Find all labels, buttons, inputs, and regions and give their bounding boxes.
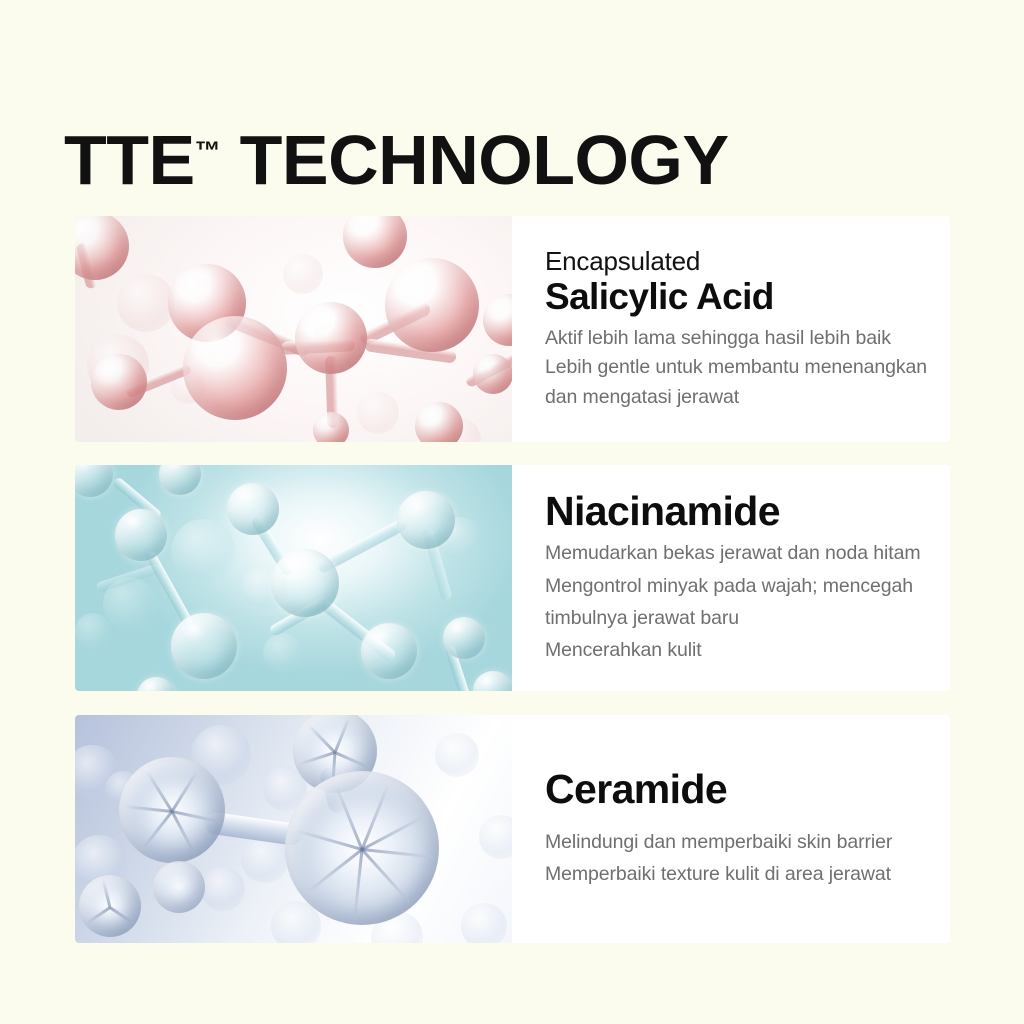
card-description: Memudarkan bekas jerawat dan noda hitam … xyxy=(545,537,926,666)
card-heading: Salicylic Acid xyxy=(545,276,927,317)
page-title-main: TTE xyxy=(64,121,195,199)
card-heading: Ceramide xyxy=(545,767,926,813)
page-title: TTE™ TECHNOLOGY xyxy=(64,125,729,195)
ingredient-card-ceramide[interactable]: Ceramide Melindungi dan memperbaiki skin… xyxy=(75,715,950,943)
description-line: Mencerahkan kulit xyxy=(545,634,926,666)
trademark-symbol: ™ xyxy=(195,136,221,166)
page-root: TTE™ TECHNOLOGY xyxy=(0,0,1024,1024)
card-description: Melindungi dan memperbaiki skin barrier … xyxy=(545,827,926,890)
description-line: Aktif lebih lama sehingga hasil lebih ba… xyxy=(545,324,927,354)
teal-molecule-image xyxy=(75,465,512,691)
description-line: Melindungi dan memperbaiki skin barrier xyxy=(545,827,926,859)
description-line: dan mengatasi jerawat xyxy=(545,383,927,413)
crystal-molecule-image xyxy=(75,715,512,943)
card-body-ceramide: Ceramide Melindungi dan memperbaiki skin… xyxy=(512,715,950,943)
card-body-salicylic-acid: Encapsulated Salicylic Acid Aktif lebih … xyxy=(512,216,950,442)
description-line: Mengontrol minyak pada wajah; mencegah xyxy=(545,570,926,602)
ingredient-card-niacinamide[interactable]: Niacinamide Memudarkan bekas jerawat dan… xyxy=(75,465,950,691)
card-heading: Niacinamide xyxy=(545,489,926,535)
description-line: Memudarkan bekas jerawat dan noda hitam xyxy=(545,537,926,569)
description-line: timbulnya jerawat baru xyxy=(545,602,926,634)
card-description: Aktif lebih lama sehingga hasil lebih ba… xyxy=(545,324,927,413)
card-eyebrow: Encapsulated xyxy=(545,246,927,277)
page-title-rest: TECHNOLOGY xyxy=(221,121,729,199)
description-line: Memperbaiki texture kulit di area jerawa… xyxy=(545,859,926,891)
pink-molecule-image xyxy=(75,216,512,442)
description-line: Lebih gentle untuk membantu menenangkan xyxy=(545,353,927,383)
card-body-niacinamide: Niacinamide Memudarkan bekas jerawat dan… xyxy=(512,465,950,691)
ingredient-card-salicylic-acid[interactable]: Encapsulated Salicylic Acid Aktif lebih … xyxy=(75,216,950,442)
